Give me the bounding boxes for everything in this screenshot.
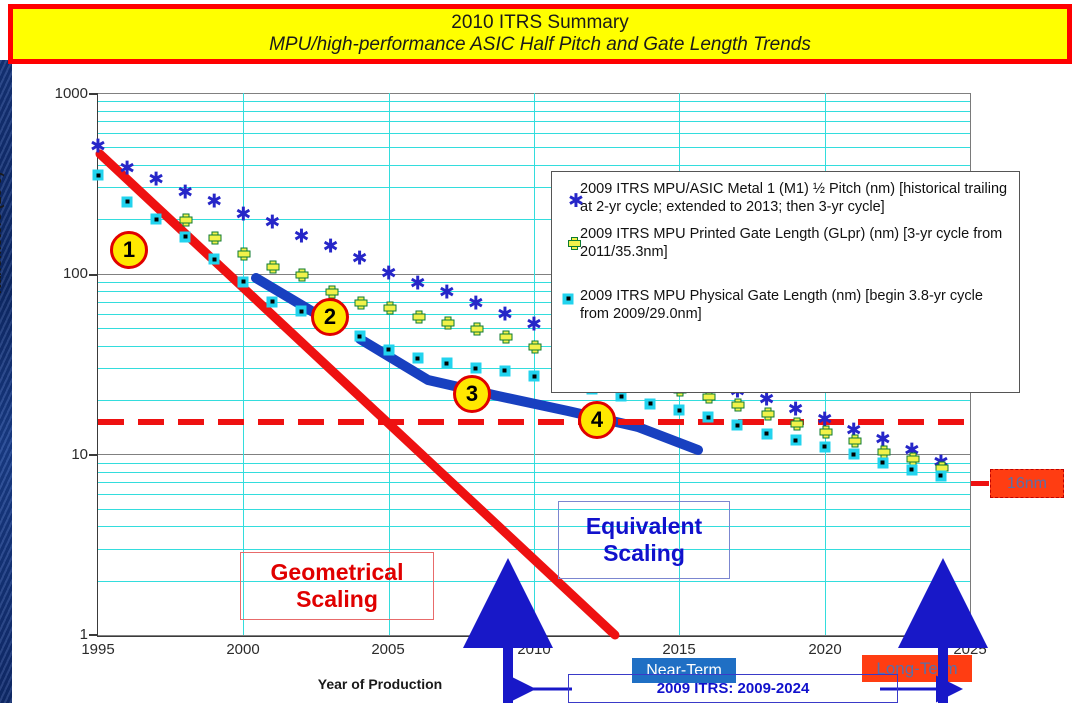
callout-circle-1: 1 (110, 231, 148, 269)
title-line-1: 2010 ITRS Summary (451, 12, 628, 34)
threshold-badge-16nm: 16nm (990, 469, 1064, 498)
geometrical-scaling-label-1: Geometrical (271, 559, 404, 586)
equivalent-scaling-label-1: Equivalent (586, 513, 702, 540)
itrs-range-label-box: 2009 ITRS: 2009-2024 (568, 674, 898, 703)
asterisk-marker-icon: ✱ (560, 181, 580, 217)
legend-label-m1-half-pitch: 2009 ITRS MPU/ASIC Metal 1 (M1) ½ Pitch … (580, 181, 1011, 217)
y-tick-label-1000: 1000 (28, 85, 88, 102)
callout-circle-4: 4 (578, 401, 616, 439)
legend-item-m1-half-pitch: ✱ 2009 ITRS MPU/ASIC Metal 1 (M1) ½ Pitc… (560, 181, 1011, 217)
itrs-trend-chart: Nanometers (1e-9) Year of Production 100… (0, 64, 1080, 703)
square-marker-icon (560, 288, 580, 324)
y-tick-mark-1000 (89, 93, 98, 95)
x-axis-title: Year of Production (260, 676, 500, 692)
plus-marker-icon (560, 226, 580, 262)
callout-circle-3: 3 (453, 375, 491, 413)
geometrical-scaling-box: Geometrical Scaling (240, 552, 434, 620)
equivalent-scaling-label-2: Scaling (603, 540, 685, 567)
x-tick-label-2000: 2000 (208, 641, 278, 658)
geometrical-scaling-label-2: Scaling (296, 586, 378, 613)
y-tick-mark-10 (89, 454, 98, 456)
legend-label-physical-gate-length: 2009 ITRS MPU Physical Gate Length (nm) … (580, 288, 1011, 324)
legend-item-printed-gate-length: 2009 ITRS MPU Printed Gate Length (GLpr)… (560, 226, 1011, 262)
y-tick-label-10: 10 (28, 446, 88, 463)
y-axis-title: Nanometers (1e-9) (0, 172, 4, 294)
legend-item-physical-gate-length: 2009 ITRS MPU Physical Gate Length (nm) … (560, 288, 1011, 324)
y-tick-label-100: 100 (28, 265, 88, 282)
chart-legend: ✱ 2009 ITRS MPU/ASIC Metal 1 (M1) ½ Pitc… (551, 171, 1020, 393)
equivalent-scaling-box: Equivalent Scaling (558, 501, 730, 579)
x-tick-label-1995: 1995 (63, 641, 133, 658)
callout-circle-2: 2 (311, 298, 349, 336)
y-tick-mark-1 (89, 634, 98, 636)
y-tick-mark-100 (89, 274, 98, 276)
title-line-2: MPU/high-performance ASIC Half Pitch and… (269, 34, 811, 56)
title-banner: 2010 ITRS Summary MPU/high-performance A… (8, 4, 1072, 64)
x-tick-label-2005: 2005 (353, 641, 423, 658)
legend-label-printed-gate-length: 2009 ITRS MPU Printed Gate Length (GLpr)… (580, 226, 1011, 262)
threshold-stub (971, 481, 989, 486)
